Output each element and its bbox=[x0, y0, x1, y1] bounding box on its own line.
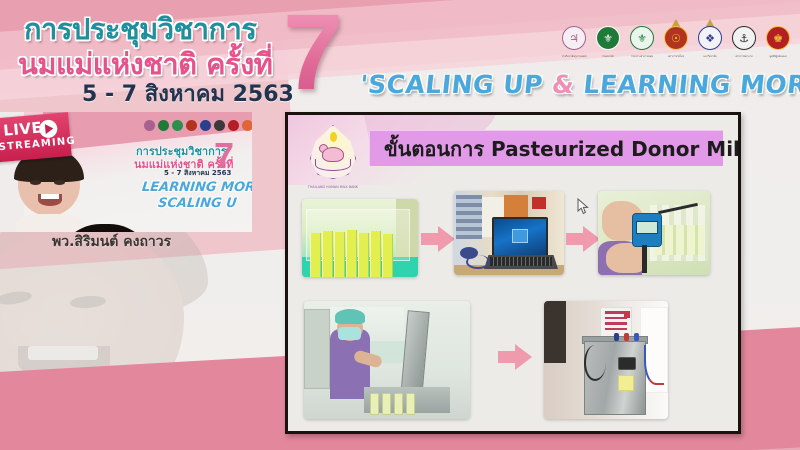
tagline-part-1: 'SCALING UP bbox=[358, 70, 553, 99]
sponsor-logo-row: ♃ ราชวิทยาลัยกุมารแพทย์ ⚜ กรมอนามัย ⚜ กร… bbox=[560, 26, 800, 58]
p4-surgical-cap bbox=[335, 309, 365, 324]
p4-bottle bbox=[382, 393, 391, 415]
p5-door-frame bbox=[544, 301, 566, 363]
live-streaming-badge: LIVE STREAMING bbox=[0, 112, 72, 164]
p3-thermometer-cable bbox=[642, 245, 647, 273]
p1-bottle bbox=[370, 231, 381, 277]
slide-title-bar: ขั้นตอนการ Pasteurized Donor Milk bbox=[369, 130, 723, 166]
backdrop-logo-6 bbox=[214, 120, 225, 131]
photo-nurse-pasteurizer bbox=[304, 301, 470, 419]
conference-tagline: 'SCALING UP & LEARNING MORE' bbox=[360, 70, 800, 104]
backdrop-tagline-line2: SCALING U bbox=[157, 196, 237, 211]
p3-hand-lower bbox=[606, 243, 646, 273]
p5-control-panel bbox=[618, 357, 636, 370]
logo-university-mark: ❖ bbox=[698, 26, 722, 50]
logo-thai-pediatric-mark: ♃ bbox=[562, 26, 586, 50]
logo-nursing-caption: สภาการพยาบาล bbox=[730, 55, 758, 58]
sign-line bbox=[605, 328, 627, 331]
p5-label-sticker bbox=[618, 375, 634, 391]
p4-bottle bbox=[370, 393, 379, 415]
backdrop-edition-number: 7 bbox=[214, 138, 234, 174]
logo-health-dept-mark: ⚜ bbox=[596, 26, 620, 50]
p5-sign-icon bbox=[624, 311, 630, 318]
logo-nursing-council: ⚓ สภาการพยาบาล bbox=[730, 26, 758, 58]
backdrop-child-photo bbox=[14, 148, 88, 232]
backdrop-logo-3 bbox=[172, 120, 183, 131]
backdrop-logo-5 bbox=[200, 120, 211, 131]
p1-bottle bbox=[310, 233, 321, 277]
photo-digital-thermometer bbox=[598, 191, 710, 275]
p2-keyboard bbox=[490, 257, 552, 266]
mouse-cursor-icon bbox=[577, 198, 589, 215]
arrow-head bbox=[515, 344, 532, 370]
play-icon bbox=[39, 119, 59, 139]
logo-red-seal: ♚ มูลนิธิศูนย์นมแม่ bbox=[764, 26, 792, 58]
milk-drop-highlight bbox=[330, 132, 337, 142]
backdrop-logo-8 bbox=[242, 120, 252, 131]
p4-bottle bbox=[406, 393, 415, 415]
p2-shelf bbox=[456, 195, 482, 239]
conference-date: 5 - 7 สิงหาคม 2563 bbox=[82, 76, 294, 111]
child-eye-left bbox=[30, 180, 41, 185]
logo-thai-pediatric: ♃ ราชวิทยาลัยกุมารแพทย์ bbox=[560, 26, 588, 58]
arrow-head bbox=[438, 226, 455, 252]
slide-title-text: ขั้นตอนการ Pasteurized Donor Milk bbox=[384, 133, 741, 165]
backdrop-logo-2 bbox=[158, 120, 169, 131]
live-stream-video[interactable]: การประชุมวิชาการ นมแม่แห่งชาติ ครั้งที่ … bbox=[0, 112, 252, 232]
logo-red-seal-caption: มูลนิธิศูนย์นมแม่ bbox=[764, 55, 792, 58]
human-milk-bank-logo: THAILAND HUMAN MILK BANK bbox=[302, 123, 364, 191]
live-badge-label: LIVE bbox=[3, 118, 43, 139]
p1-bottle bbox=[382, 234, 393, 277]
logo-university: ❖ มหาวิทยาลัย bbox=[696, 26, 724, 58]
backdrop-logo-1 bbox=[144, 120, 155, 131]
logo-health-dept-green: ⚜ กรมอนามัย bbox=[594, 26, 622, 58]
backdrop-tagline-line1: LEARNING MOR bbox=[141, 180, 252, 195]
child-teeth bbox=[41, 194, 59, 199]
logo-ministry-mark: ⚜ bbox=[630, 26, 654, 50]
logo-hands bbox=[315, 159, 351, 171]
logo-red-seal-mark: ♚ bbox=[766, 26, 790, 50]
backdrop-logo-4 bbox=[186, 120, 197, 131]
photo-milk-bottles-crate bbox=[302, 199, 418, 277]
p1-bottle bbox=[346, 230, 357, 277]
watermark-teeth bbox=[28, 346, 98, 360]
p1-bottle bbox=[322, 231, 333, 277]
p4-cabinet bbox=[304, 309, 330, 389]
conference-edition-number: 7 bbox=[283, 0, 343, 106]
p4-face-mask bbox=[338, 327, 361, 340]
arrow-3 bbox=[498, 344, 532, 370]
backdrop-logo-7 bbox=[228, 120, 239, 131]
photo-laptop-record bbox=[454, 191, 564, 275]
p1-bottle bbox=[358, 233, 369, 277]
speaker-name-caption: พว.สิริมนต์ คงถาวร bbox=[52, 231, 171, 253]
p5-power-cord bbox=[584, 345, 606, 381]
logo-royal-caption: สภากาชาดไทย bbox=[662, 55, 690, 58]
photo-pasteurizer-machine bbox=[544, 301, 668, 419]
p3-thermometer-display bbox=[636, 221, 658, 234]
logo-royal-mark: ☉ bbox=[664, 26, 688, 50]
logo-health-dept-caption: กรมอนามัย bbox=[594, 55, 622, 58]
logo-nursing-mark: ⚓ bbox=[732, 26, 756, 50]
arrow-2 bbox=[566, 226, 600, 252]
slide-broadcast-screen: การประชุมวิชาการ นมแม่แห่งชาติ ครั้งที่ … bbox=[0, 0, 800, 450]
p5-knob-blue-2 bbox=[634, 333, 639, 341]
p2-screen-window bbox=[512, 229, 528, 243]
logo-royal-emblem: ☉ สภากาชาดไทย bbox=[662, 26, 690, 58]
p5-knob-red bbox=[624, 333, 629, 341]
child-eye-right bbox=[54, 180, 65, 185]
tagline-part-2: LEARNING MORE' bbox=[573, 70, 800, 99]
p2-red-logo bbox=[532, 197, 546, 209]
arrow-1 bbox=[421, 226, 455, 252]
logo-ministry-public-health: ⚜ กระทรวงสาธารณสุข bbox=[628, 26, 656, 58]
p2-mouse bbox=[460, 247, 478, 259]
presentation-slide: THAILAND HUMAN MILK BANK ขั้นตอนการ Past… bbox=[285, 112, 741, 434]
p4-bottle bbox=[394, 393, 403, 415]
p1-bottle bbox=[334, 232, 345, 277]
logo-caption: THAILAND HUMAN MILK BANK bbox=[302, 185, 364, 189]
logo-thai-pediatric-caption: ราชวิทยาลัยกุมารแพทย์ bbox=[560, 55, 588, 58]
logo-ministry-caption: กระทรวงสาธารณสุข bbox=[628, 55, 656, 58]
p5-knob-blue bbox=[614, 333, 619, 341]
sign-line bbox=[605, 322, 627, 325]
logo-university-caption: มหาวิทยาลัย bbox=[696, 55, 724, 58]
backdrop-logos bbox=[144, 120, 252, 131]
